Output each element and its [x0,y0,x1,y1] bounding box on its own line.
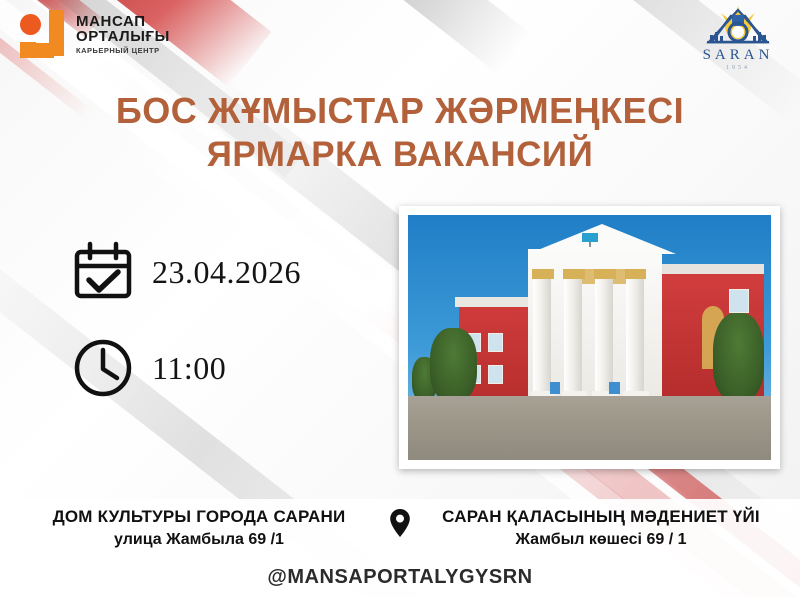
footer-pin-wrap [383,507,417,538]
calendar-check-icon [72,241,134,303]
poster-header: МАНСАП ОРТАЛЫҒЫ КАРЬЕРНЫЙ ЦЕНТР [0,0,800,78]
mansap-center-logo: МАНСАП ОРТАЛЫҒЫ КАРЬЕРНЫЙ ЦЕНТР [18,6,170,62]
event-time-row: 11:00 [72,334,301,402]
saran-city-logo: SARAN 1954 [692,4,784,71]
mansap-brand-line2: ОРТАЛЫҒЫ [76,29,170,44]
event-date-row: 23.04.2026 [72,238,301,306]
footer-venue-street-kk: Жамбыл көшесі 69 / 1 [425,531,777,549]
house-of-culture-photo [408,215,771,460]
poster-title-russian: ЯРМАРКА ВАКАНСИЙ [0,133,800,177]
footer-address-russian: ДОМ КУЛЬТУРЫ ГОРОДА САРАНИ улица Жамбыла… [23,507,375,549]
footer-venue-name-ru: ДОМ КУЛЬТУРЫ ГОРОДА САРАНИ [23,507,375,527]
mansap-brand-words: МАНСАП ОРТАЛЫҒЫ КАРЬЕРНЫЙ ЦЕНТР [76,6,170,54]
event-date-value: 23.04.2026 [152,254,301,291]
mansap-brand-line1: МАНСАП [76,14,170,29]
footer-address-kazakh: САРАН ҚАЛАСЫНЫҢ МӘДЕНИЕТ ҮЙІ Жамбыл көше… [425,507,777,549]
poster-footer: ДОМ КУЛЬТУРЫ ГОРОДА САРАНИ улица Жамбыла… [0,499,800,597]
footer-address-rows: ДОМ КУЛЬТУРЫ ГОРОДА САРАНИ улица Жамбыла… [0,507,800,549]
vacancy-fair-poster: МАНСАП ОРТАЛЫҒЫ КАРЬЕРНЫЙ ЦЕНТР [0,0,800,597]
saran-city-name: SARAN [692,47,784,64]
event-time-value: 11:00 [152,350,226,387]
mansap-brand-subtitle: КАРЬЕРНЫЙ ЦЕНТР [76,47,170,55]
saran-city-emblem-icon [701,4,775,48]
saran-city-year: 1954 [692,65,784,71]
poster-title-block: БОС ЖҰМЫСТАР ЖӘРМЕҢКЕСІ ЯРМАРКА ВАКАНСИЙ [0,88,800,177]
footer-venue-name-kk: САРАН ҚАЛАСЫНЫҢ МӘДЕНИЕТ ҮЙІ [425,507,777,527]
venue-photo-frame [399,206,780,469]
footer-venue-street-ru: улица Жамбыла 69 /1 [23,531,375,549]
map-pin-icon [389,508,411,538]
social-handle[interactable]: @MANSAPORTALYGYSRN [0,566,800,589]
poster-title-kazakh: БОС ЖҰМЫСТАР ЖӘРМЕҢКЕСІ [0,88,800,133]
mansap-orange-mark-icon [18,6,70,62]
clock-icon [72,337,134,399]
event-info-block: 23.04.2026 11:00 [72,238,301,402]
